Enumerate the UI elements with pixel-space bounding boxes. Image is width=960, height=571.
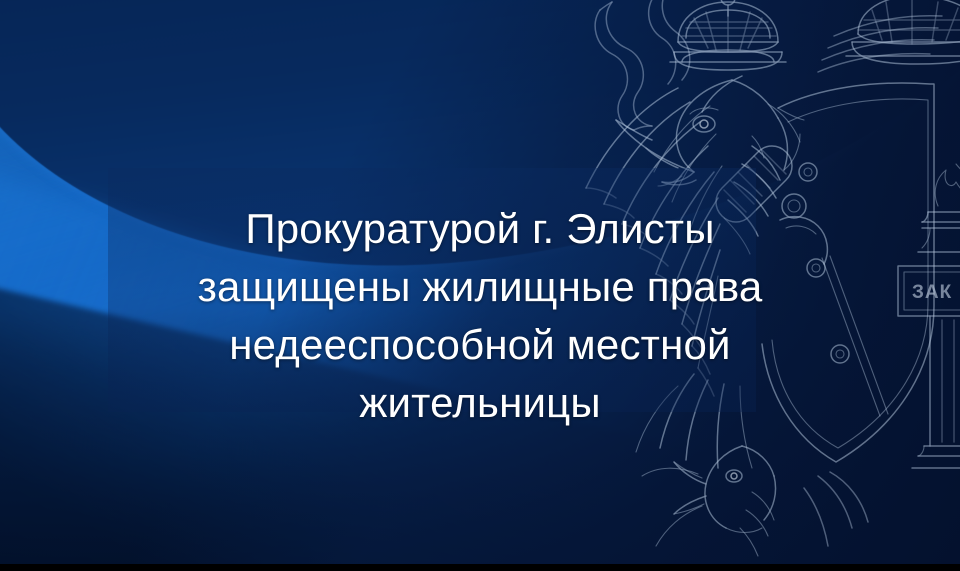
bottom-black-bar xyxy=(0,564,960,571)
page-title: Прокуратурой г. Элисты защищены жилищные… xyxy=(0,200,960,432)
slide-canvas: ЗАК xyxy=(0,0,960,571)
